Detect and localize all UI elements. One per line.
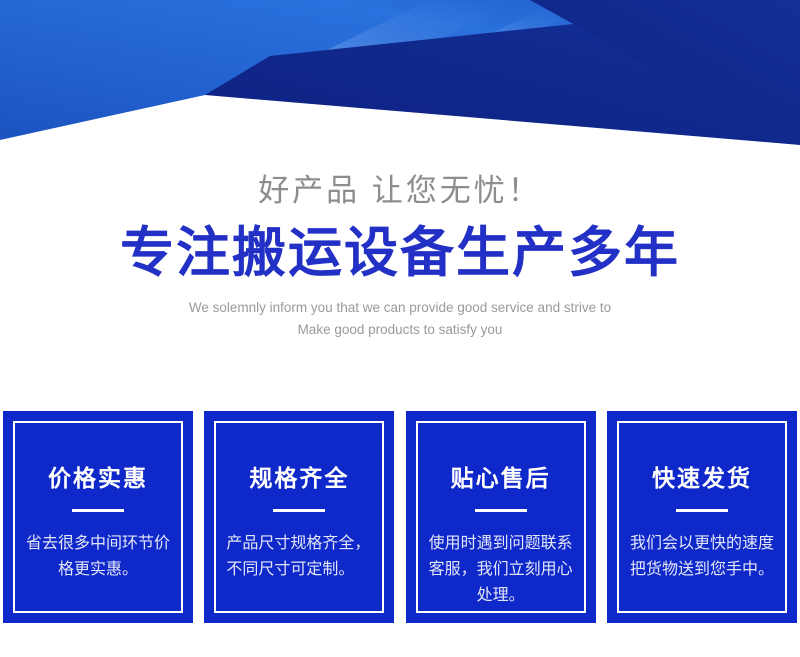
header-banner [0,0,800,150]
feature-card-price[interactable]: 价格实惠 省去很多中间环节价格更实惠。 [3,411,193,623]
card-inner-frame: 规格齐全 产品尺寸规格齐全，不同尺寸可定制。 [214,421,384,613]
card-inner-frame: 价格实惠 省去很多中间环节价格更实惠。 [13,421,183,613]
hero-english-block: We solemnly inform you that we can provi… [0,297,800,341]
card-divider [475,509,527,512]
feature-card-shipping[interactable]: 快速发货 我们会以更快的速度把货物送到您手中。 [607,411,797,623]
card-title: 价格实惠 [48,464,148,492]
card-description: 我们会以更快的速度把货物送到您手中。 [629,531,775,583]
feature-card-row: 价格实惠 省去很多中间环节价格更实惠。 规格齐全 产品尺寸规格齐全，不同尺寸可定… [3,411,797,623]
promo-page: 好产品 让您无忧！ 专注搬运设备生产多年 We solemnly inform … [0,0,800,657]
hero-english-line-2: Make good products to satisfy you [0,319,800,341]
card-inner-frame: 快速发货 我们会以更快的速度把货物送到您手中。 [617,421,787,613]
hero-text-block: 好产品 让您无忧！ 专注搬运设备生产多年 We solemnly inform … [0,168,800,341]
banner-graphic [0,0,800,150]
card-divider [273,509,325,512]
card-description: 省去很多中间环节价格更实惠。 [25,531,171,583]
card-divider [72,509,124,512]
card-title: 贴心售后 [451,464,551,492]
feature-card-aftersales[interactable]: 贴心售后 使用时遇到问题联系客服，我们立刻用心处理。 [406,411,596,623]
feature-card-specs[interactable]: 规格齐全 产品尺寸规格齐全，不同尺寸可定制。 [204,411,394,623]
card-inner-frame: 贴心售后 使用时遇到问题联系客服，我们立刻用心处理。 [416,421,586,613]
card-title: 快速发货 [652,464,752,492]
card-divider [676,509,728,512]
card-title: 规格齐全 [249,464,349,492]
card-description: 产品尺寸规格齐全，不同尺寸可定制。 [226,531,372,583]
hero-headline: 专注搬运设备生产多年 [0,221,800,285]
hero-english-line-1: We solemnly inform you that we can provi… [0,297,800,319]
hero-subtitle: 好产品 让您无忧！ [0,168,800,214]
card-description: 使用时遇到问题联系客服，我们立刻用心处理。 [428,531,574,609]
